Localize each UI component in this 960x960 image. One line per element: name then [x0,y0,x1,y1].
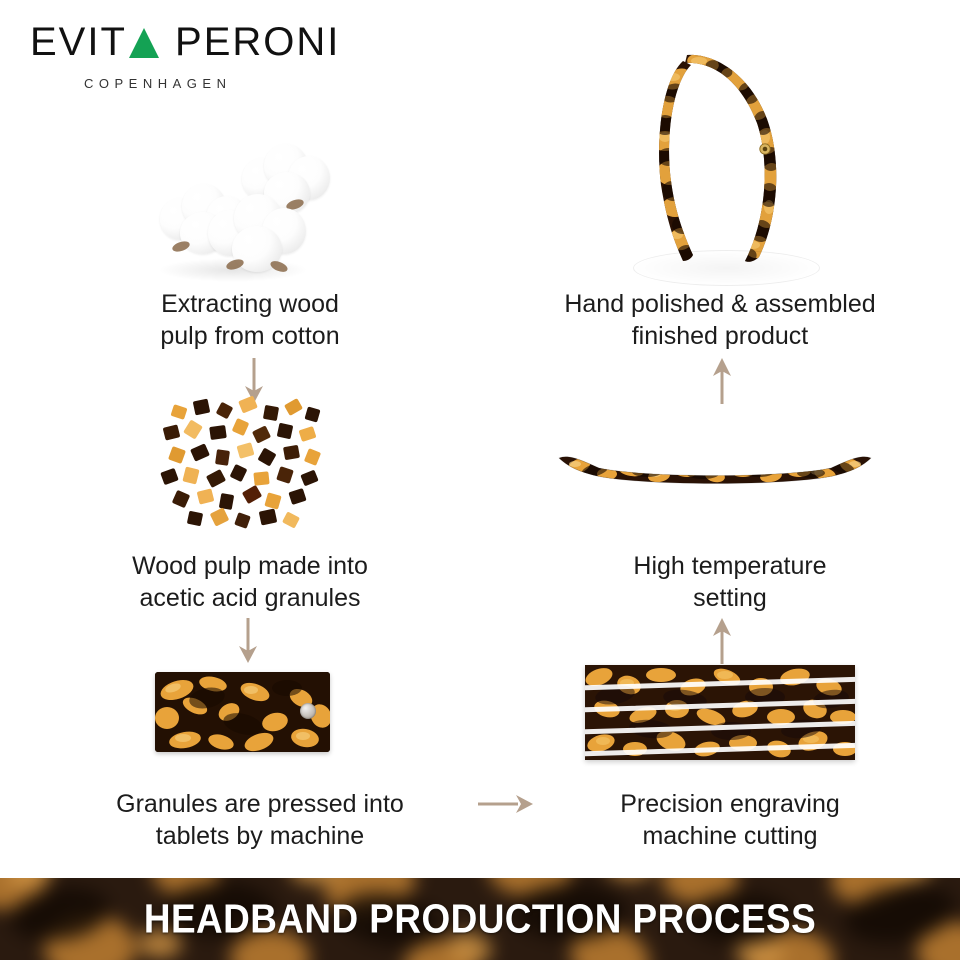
tablet-hole [300,703,316,719]
arrow-up-icon [704,358,740,404]
green-triangle-icon [129,28,159,58]
acetate-tablet-image [155,672,330,752]
step-2-caption: Wood pulp made into acetic acid granules [80,550,420,614]
cotton-bolls-image [150,140,360,290]
acetic-acid-granules-image [160,398,330,533]
step-5-caption: High temperature setting [565,550,895,614]
step-3-caption: Granules are pressed into tablets by mac… [70,788,450,852]
arrow-down-icon [230,618,266,664]
step-3-caption-line-2: tablets by machine [70,820,450,852]
finished-headband-image [625,45,855,290]
step-2-caption-line-1: Wood pulp made into [80,550,420,582]
infographic-page: EVIT PERONI COPENHAGEN [0,0,960,960]
step-4-caption: Precision engraving machine cutting [565,788,895,852]
brand-logo: EVIT PERONI COPENHAGEN [30,22,330,91]
arrow-up-icon [704,618,740,664]
bottom-banner: HEADBAND PRODUCTION PROCESS [0,878,960,960]
step-2-caption-line-2: acetic acid granules [80,582,420,614]
banner-title: HEADBAND PRODUCTION PROCESS [48,896,912,943]
brand-name-part-2: PERONI [162,22,340,62]
step-1-caption-line-1: Extracting wood [90,288,410,320]
step-6-caption-line-2: finished product [520,320,920,352]
engraved-cut-sheet-image [585,665,855,760]
step-4-caption-line-1: Precision engraving [565,788,895,820]
step-5-caption-line-2: setting [565,582,895,614]
step-1-caption-line-2: pulp from cotton [90,320,410,352]
brand-tagline: COPENHAGEN [84,76,330,91]
step-4-caption-line-2: machine cutting [565,820,895,852]
arrow-right-icon [478,790,534,818]
step-6-caption: Hand polished & assembled finished produ… [520,288,920,352]
step-1-caption: Extracting wood pulp from cotton [90,288,410,352]
cotton-boll [208,192,308,278]
shaped-headband-blank-image [555,440,875,495]
headband-blank-shape [555,440,875,495]
step-6-caption-line-1: Hand polished & assembled [520,288,920,320]
step-5-caption-line-1: High temperature [565,550,895,582]
step-3-caption-line-1: Granules are pressed into [70,788,450,820]
logo-charm-icon [760,144,770,154]
brand-name-part-1: EVIT [30,22,127,62]
brand-wordmark: EVIT PERONI [30,22,330,62]
headband-shadow [633,250,820,286]
